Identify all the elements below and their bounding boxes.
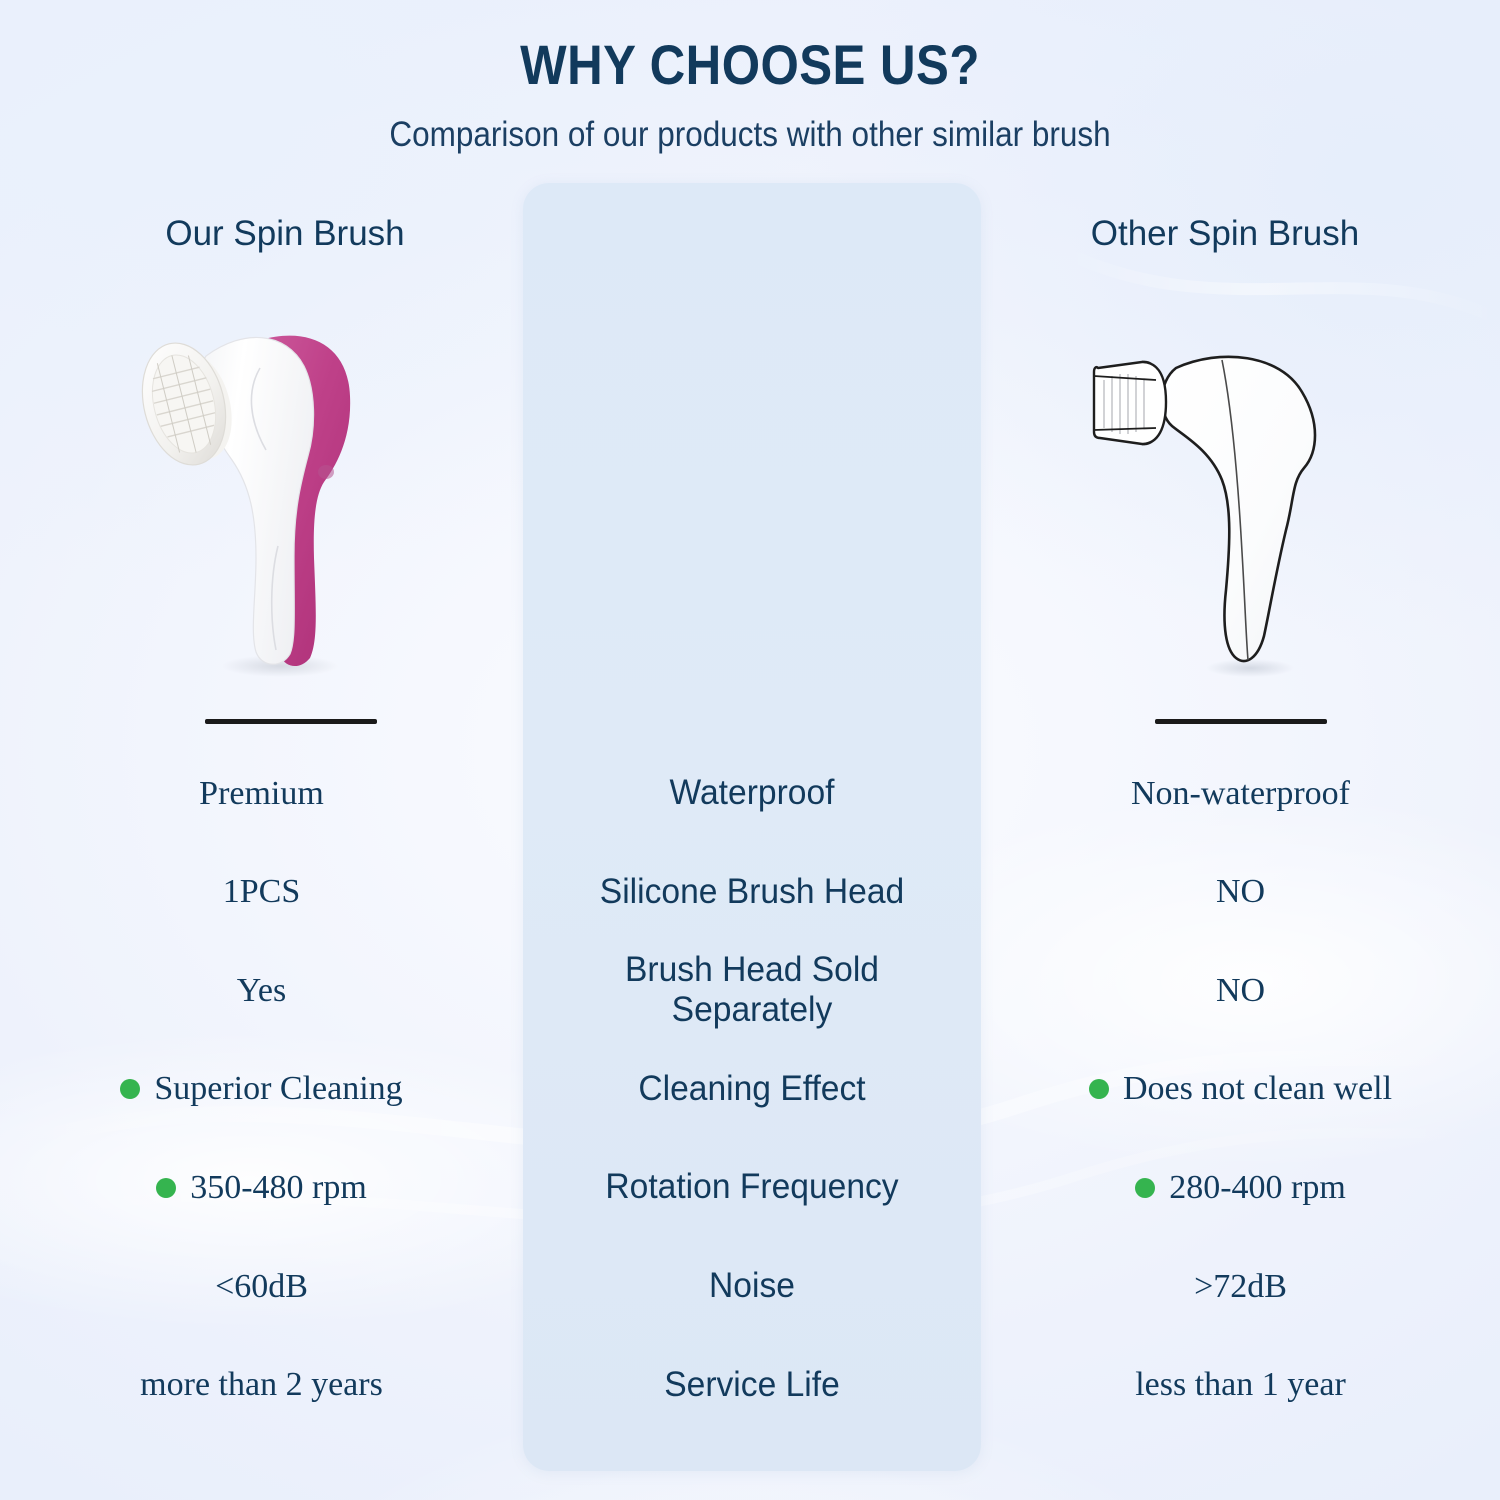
ours-value-text: Superior Cleaning: [154, 1069, 402, 1108]
feature-label: Noise: [532, 1266, 972, 1306]
green-bullet-icon: [1089, 1079, 1109, 1099]
table-row: 1PCS Silicone Brush Head NO: [0, 843, 1500, 942]
other-value: Non-waterproof: [981, 774, 1500, 813]
header: WHY CHOOSE US? Comparison of our product…: [0, 0, 1500, 155]
page-subtitle: Comparison of our products with other si…: [75, 115, 1425, 155]
feature-label: Service Life: [532, 1365, 972, 1405]
ours-value: 350-480 rpm: [0, 1168, 523, 1207]
divider-rule-other: [1155, 719, 1327, 724]
comparison-infographic: WHY CHOOSE US? Comparison of our product…: [0, 0, 1500, 1500]
table-row: Superior Cleaning Cleaning Effect Does n…: [0, 1040, 1500, 1139]
column-heading-other: Other Spin Brush: [1000, 214, 1450, 254]
table-row: more than 2 years Service Life less than…: [0, 1335, 1500, 1434]
table-row: <60dB Noise >72dB: [0, 1237, 1500, 1336]
feature-label: Rotation Frequency: [532, 1167, 972, 1207]
other-spin-brush-image: [1080, 340, 1350, 680]
comparison-table: Premium Waterproof Non-waterproof 1PCS S…: [0, 744, 1500, 1434]
column-heading-ours: Our Spin Brush: [60, 214, 510, 254]
table-row: Premium Waterproof Non-waterproof: [0, 744, 1500, 843]
page-title: WHY CHOOSE US?: [90, 32, 1410, 97]
ours-value: 1PCS: [0, 872, 523, 911]
feature-label: Cleaning Effect: [532, 1069, 972, 1109]
other-value: 280-400 rpm: [981, 1168, 1500, 1207]
other-value-text: 280-400 rpm: [1169, 1168, 1346, 1207]
green-bullet-icon: [120, 1079, 140, 1099]
ours-value: Premium: [0, 774, 523, 813]
ours-value: Superior Cleaning: [0, 1069, 523, 1108]
other-value: NO: [981, 971, 1500, 1010]
ours-value-text: 350-480 rpm: [190, 1168, 367, 1207]
other-value: NO: [981, 872, 1500, 911]
other-value-text: Does not clean well: [1123, 1069, 1392, 1108]
feature-label: Waterproof: [532, 773, 972, 813]
ours-value: more than 2 years: [0, 1365, 523, 1404]
table-row: 350-480 rpm Rotation Frequency 280-400 r…: [0, 1138, 1500, 1237]
green-bullet-icon: [156, 1178, 176, 1198]
other-value: less than 1 year: [981, 1365, 1500, 1404]
divider-rule-ours: [205, 719, 377, 724]
our-spin-brush-image: [110, 310, 410, 680]
ours-value: Yes: [0, 971, 523, 1010]
other-value: Does not clean well: [981, 1069, 1500, 1108]
table-row: Yes Brush Head Sold Separately NO: [0, 941, 1500, 1040]
other-value: >72dB: [981, 1267, 1500, 1306]
feature-label: Silicone Brush Head: [532, 872, 972, 912]
ours-value: <60dB: [0, 1267, 523, 1306]
feature-label: Brush Head Sold Separately: [532, 950, 972, 1031]
green-bullet-icon: [1135, 1178, 1155, 1198]
